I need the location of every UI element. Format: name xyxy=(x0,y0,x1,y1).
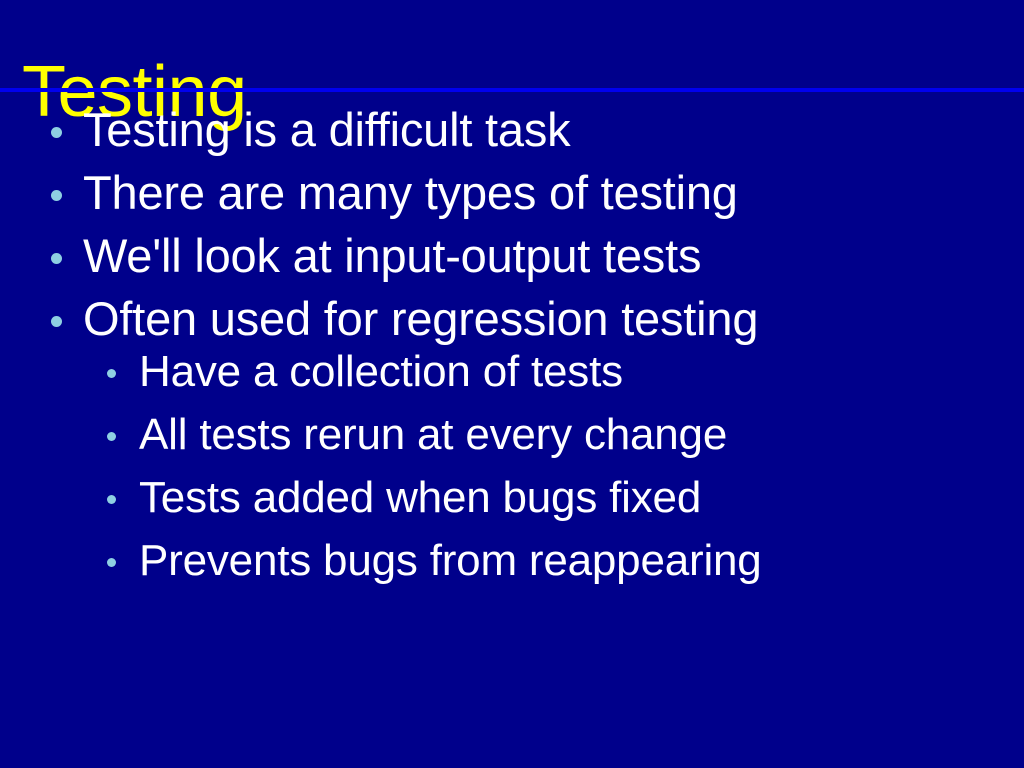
list-item: Testing is a difficult task xyxy=(0,100,1024,163)
bullet-text: Testing is a difficult task xyxy=(83,98,570,161)
bullet-text: Have a collection of tests xyxy=(139,340,623,403)
list-item: Prevents bugs from reappearing xyxy=(0,541,1024,604)
bullet-dot-icon xyxy=(107,369,116,378)
bullet-text: Tests added when bugs fixed xyxy=(139,466,701,529)
bullet-dot-icon xyxy=(107,495,116,504)
bullet-text: There are many types of testing xyxy=(83,161,738,224)
bullet-dot-icon xyxy=(107,558,116,567)
presentation-slide: Testing Testing is a difficult task Ther… xyxy=(0,0,1024,768)
bullet-dot-icon xyxy=(107,432,116,441)
slide-bullet-list: Testing is a difficult task There are ma… xyxy=(0,100,1024,604)
title-divider-rule xyxy=(0,88,1024,92)
list-item: We'll look at input-output tests xyxy=(0,226,1024,289)
bullet-text: All tests rerun at every change xyxy=(139,403,727,466)
bullet-dot-icon xyxy=(51,190,62,201)
bullet-dot-icon xyxy=(51,253,62,264)
list-item: There are many types of testing xyxy=(0,163,1024,226)
bullet-text: Prevents bugs from reappearing xyxy=(139,529,762,592)
bullet-dot-icon xyxy=(51,127,62,138)
bullet-text: We'll look at input-output tests xyxy=(83,224,701,287)
bullet-dot-icon xyxy=(51,316,62,327)
